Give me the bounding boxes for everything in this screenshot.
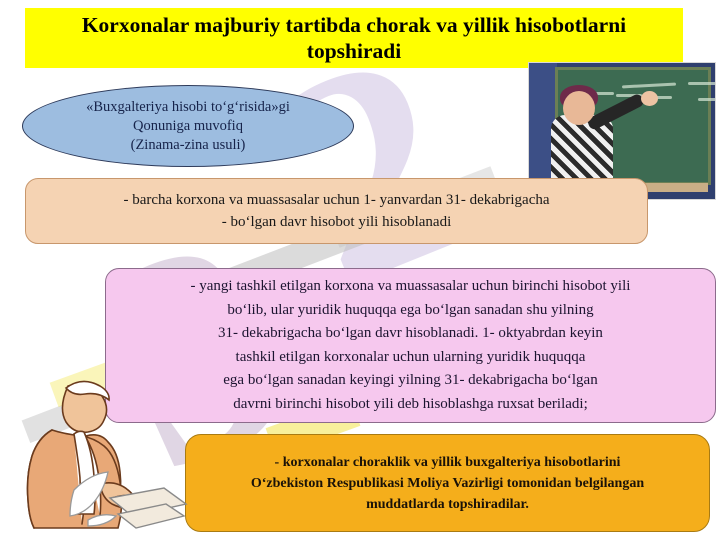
- photo-teacher-head: [563, 91, 595, 125]
- slide-title-banner: Korxonalar majburiy tartibda chorak va y…: [25, 8, 683, 68]
- first-reporting-year-box: - yangi tashkil etilgan korxona va muass…: [105, 268, 716, 423]
- submission-deadline-text: - korxonalar choraklik va yillik buxgalt…: [239, 452, 656, 515]
- first-reporting-year-text: - yangi tashkil etilgan korxona va muass…: [185, 275, 637, 416]
- photo-teacher-hand: [641, 91, 658, 106]
- page-title: Korxonalar majburiy tartibda chorak va y…: [25, 12, 683, 64]
- submission-deadline-box: - korxonalar choraklik va yillik buxgalt…: [185, 434, 710, 532]
- watermark-digit-2: 2: [257, 29, 486, 308]
- reporting-period-text: - barcha korxona va muassasalar uchun 1-…: [109, 189, 563, 233]
- slide-canvas: 2 3 Korxonalar majburiy tartibda chorak …: [0, 0, 720, 540]
- businessman-writing-clipart: [14, 372, 190, 532]
- law-reference-text: «Buxgalteriya hisobi to‘g‘risida»gi Qonu…: [58, 98, 318, 155]
- law-reference-ellipse: «Buxgalteriya hisobi to‘g‘risida»gi Qonu…: [22, 85, 354, 167]
- reporting-period-box: - barcha korxona va muassasalar uchun 1-…: [25, 178, 648, 244]
